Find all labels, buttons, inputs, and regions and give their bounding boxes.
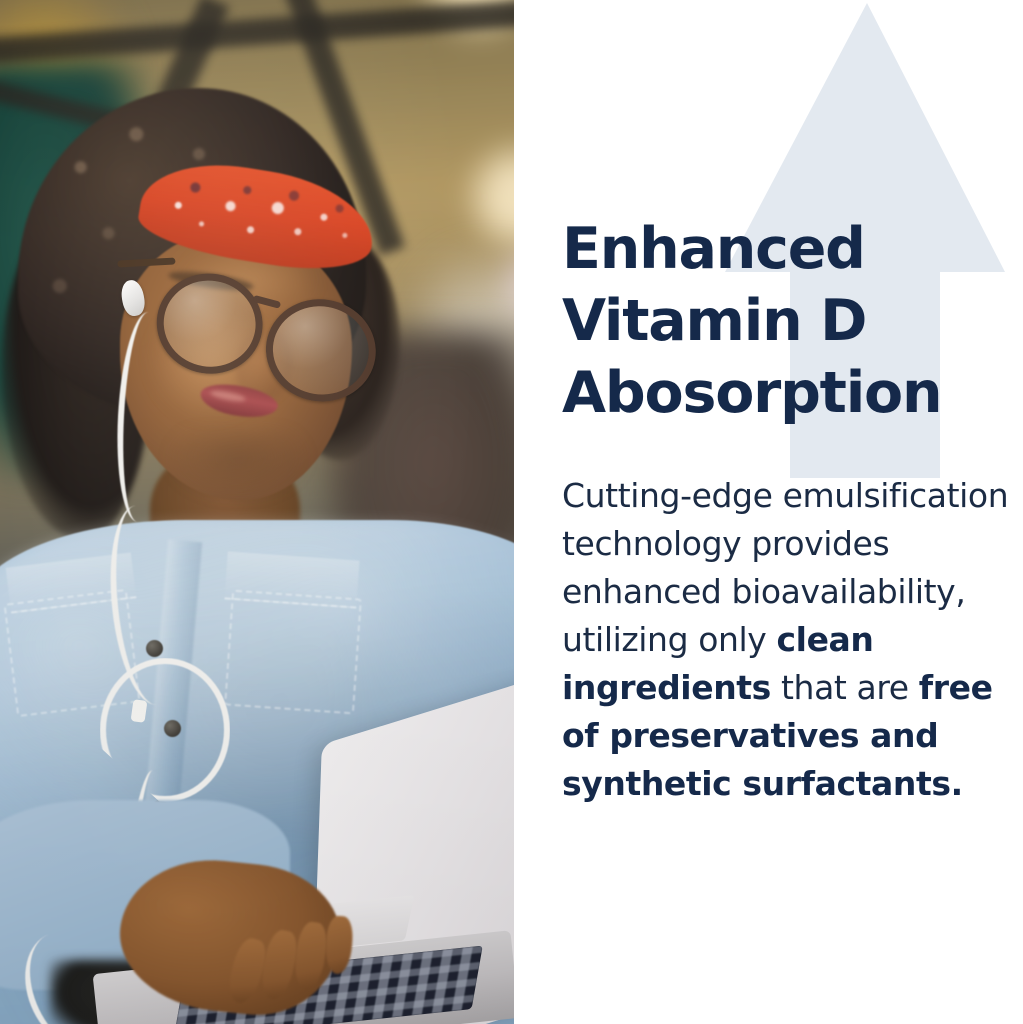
promo-graphic-canvas: Enhanced Vitamin D Abosorption Cutting-e… — [0, 0, 1023, 1024]
chin-shadow — [168, 430, 308, 500]
heading-line-2: Vitamin D — [562, 288, 866, 354]
body-text: that are — [771, 668, 919, 707]
shirt-pocket — [224, 590, 362, 715]
heading-line-3: Abosorption — [562, 360, 941, 426]
glasses-lens-left — [149, 266, 269, 381]
heading-line-1: Enhanced — [562, 216, 865, 282]
body-paragraph: Cutting-edge emulsification technology p… — [562, 472, 1014, 808]
page-title: Enhanced Vitamin D Abosorption — [562, 213, 1014, 429]
photo-stage — [0, 0, 514, 1024]
hero-photo — [0, 0, 514, 1024]
content-panel: Enhanced Vitamin D Abosorption Cutting-e… — [514, 0, 1023, 1024]
